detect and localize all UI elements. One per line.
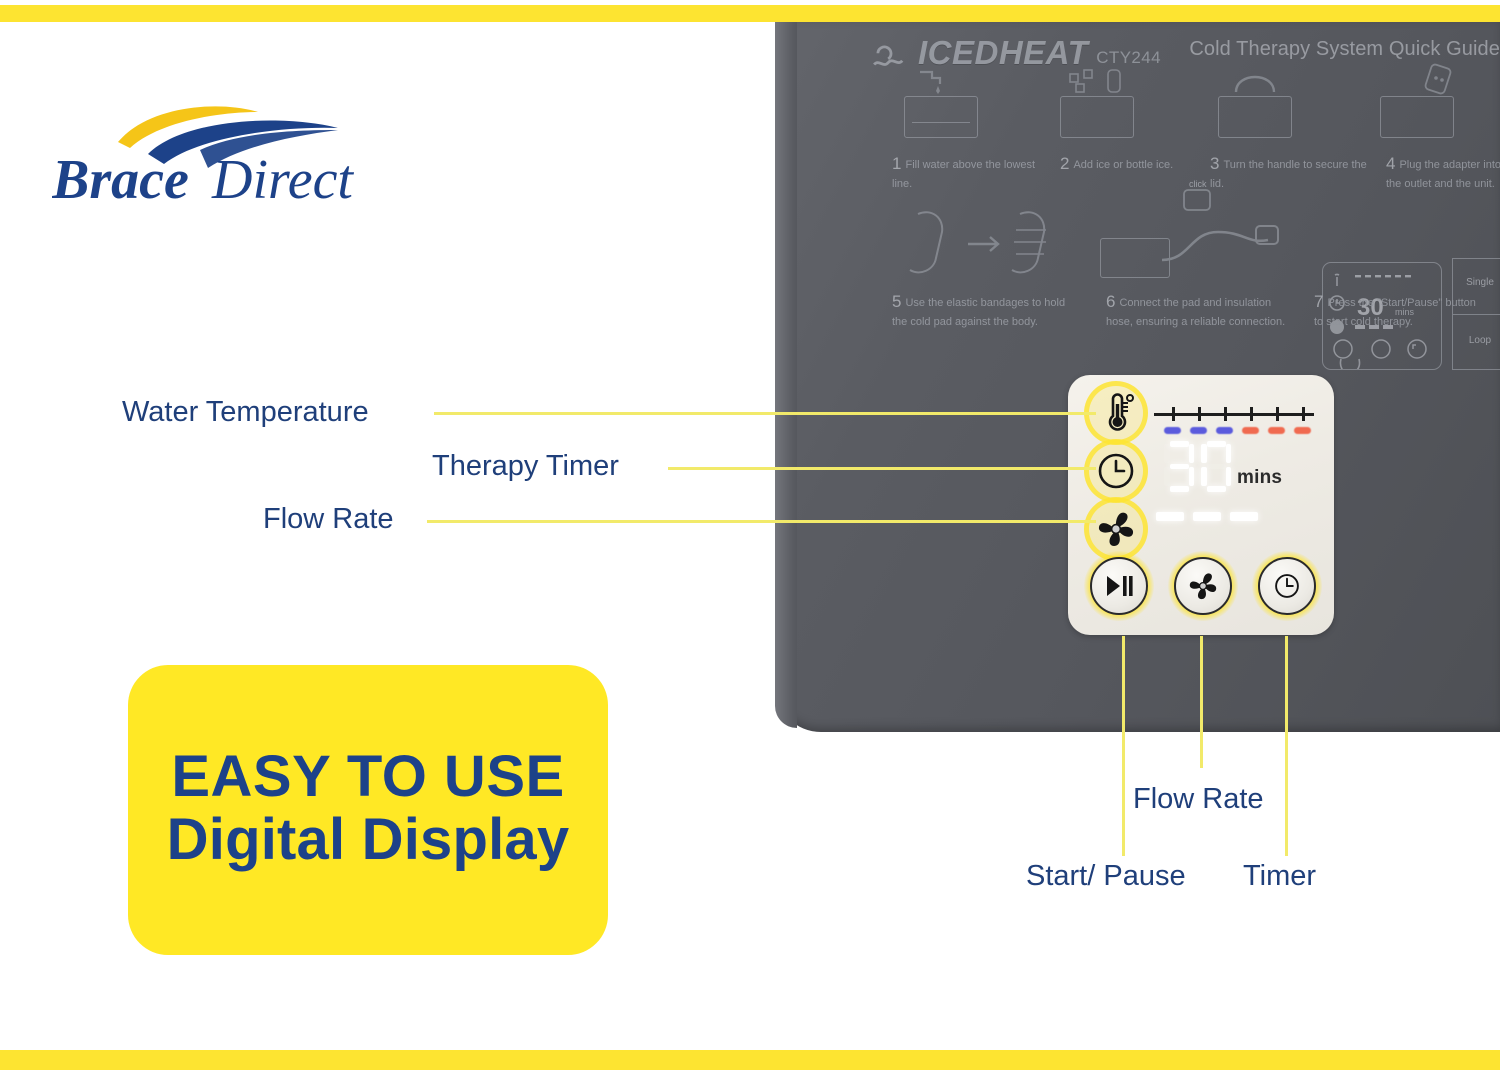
faucet-icon [916, 66, 950, 96]
cta-line-1: EASY TO USE [171, 747, 564, 808]
callout-flow-rate-bottom: Flow Rate [1133, 783, 1264, 816]
mode-single-label: Single [1453, 277, 1500, 288]
scale-axis [1154, 413, 1314, 416]
play-pause-icon [1104, 573, 1134, 599]
cta-line-2: Digital Display [167, 808, 570, 873]
guide-step-1: 1Fill water above the lowest line. [892, 154, 1042, 192]
timer-readout: mins [1164, 441, 1282, 491]
guide-step-4: 4Plug the adapter into the outlet and th… [1386, 154, 1500, 192]
callout-therapy-timer: Therapy Timer [432, 450, 619, 483]
button-row [1090, 557, 1316, 615]
pictogram-tank-3 [1218, 96, 1292, 138]
scale-tick [1250, 407, 1253, 421]
guide-step-5: 5Use the elastic bandages to hold the co… [892, 292, 1072, 330]
step-text: Use the elastic bandages to hold the col… [892, 297, 1065, 328]
clock-icon [1271, 570, 1303, 602]
leader-line-start-pause [1122, 636, 1125, 856]
leg-wrap-icon [898, 204, 1078, 290]
scale-tick [1224, 407, 1227, 421]
pictogram-tank-4 [1380, 96, 1454, 138]
cta-banner: EASY TO USE Digital Display [128, 665, 608, 955]
led-cold [1216, 427, 1233, 434]
step-number: 5 [892, 292, 901, 311]
start-pause-button[interactable] [1090, 557, 1148, 615]
brace-direct-logo: Brace Direct [52, 98, 412, 208]
led-warm [1242, 427, 1259, 434]
leader-line-flow-rate-bottom [1200, 636, 1203, 768]
lid-quick-guide: ICEDHEAT CTY244 Cold Therapy System Quic… [860, 26, 1500, 338]
flow-rate-bars [1156, 512, 1258, 521]
pictogram-tank-2 [1060, 96, 1134, 138]
guide-title: Cold Therapy System Quick Guide [1189, 38, 1500, 61]
callout-timer: Timer [1243, 860, 1316, 893]
button-cap[interactable] [1258, 557, 1316, 615]
guide-step-6: 6Connect the pad and insulation hose, en… [1106, 292, 1296, 330]
scale-tick [1276, 407, 1279, 421]
step-number: 2 [1060, 154, 1069, 173]
scale-tick [1172, 407, 1175, 421]
flow-rate-button[interactable] [1174, 557, 1232, 615]
timer-button[interactable] [1258, 557, 1316, 615]
guide-step-2: 2Add ice or bottle ice. [1060, 154, 1210, 174]
step-number: 3 [1210, 154, 1219, 173]
flow-bar [1193, 512, 1221, 521]
leader-line-flow-rate [427, 520, 1096, 523]
callout-water-temperature: Water Temperature [122, 396, 369, 429]
digit-ones [1201, 441, 1231, 491]
scale-tick [1302, 407, 1305, 421]
indicator-therapy-timer [1094, 449, 1138, 493]
click-indicator-icon: click [1170, 180, 1226, 222]
faucet-wave-icon [872, 42, 910, 72]
led-warm [1268, 427, 1285, 434]
leader-line-water-temperature [434, 412, 1096, 415]
step-text: Fill water above the lowest line. [892, 159, 1035, 190]
flow-bar [1156, 512, 1184, 521]
flow-bar [1230, 512, 1258, 521]
mode-loop-label: Loop [1453, 335, 1500, 346]
scale-tick [1198, 407, 1201, 421]
button-cap[interactable] [1090, 557, 1148, 615]
infographic-page: Brace Direct ICEDHEAT CTY244 Cold Therap… [0, 0, 1500, 1076]
led-cold [1190, 427, 1207, 434]
indicator-water-temperature [1094, 391, 1138, 435]
step-text: Press the "Start/Pause" button to start … [1314, 297, 1476, 328]
indicator-flow-rate [1094, 507, 1138, 551]
callout-start-pause: Start/ Pause [1026, 860, 1186, 893]
step-number: 6 [1106, 292, 1115, 311]
seven-segment-digits [1164, 441, 1231, 491]
control-panel: mins [1068, 375, 1334, 635]
leader-line-timer [1285, 636, 1288, 856]
led-cold [1164, 427, 1181, 434]
step-number: 1 [892, 154, 901, 173]
led-warm [1294, 427, 1311, 434]
fan-icon [1094, 507, 1138, 551]
callout-flow-rate-left: Flow Rate [263, 503, 394, 536]
pictogram-tank-1 [904, 96, 978, 138]
timer-unit-label: mins [1237, 467, 1282, 491]
step-text: Connect the pad and insulation hose, ens… [1106, 297, 1285, 328]
step-number: 4 [1386, 154, 1395, 173]
step-text: Plug the adapter into the outlet and the… [1386, 159, 1500, 190]
step-text: Turn the handle to secure the lid. [1210, 159, 1367, 190]
ice-cubes-icon [1066, 68, 1136, 96]
svg-text:click: click [1189, 180, 1207, 189]
temperature-scale [1154, 403, 1314, 437]
handle-icon [1230, 66, 1282, 96]
fan-icon [1186, 569, 1220, 603]
bottom-accent-bar [0, 1050, 1500, 1070]
pictogram-waterline-1 [912, 122, 970, 123]
step-text: Add ice or bottle ice. [1073, 159, 1173, 171]
logo-text-direct: Direct [211, 149, 354, 208]
guide-step-3: 3Turn the handle to secure the lid. [1210, 154, 1380, 192]
logo-text-brace: Brace [52, 149, 189, 208]
step-number: 7 [1314, 292, 1323, 311]
power-adapter-icon [1418, 62, 1462, 96]
pointing-hand-icon [1340, 359, 1359, 369]
top-accent-bar [0, 5, 1500, 22]
digit-tens [1164, 441, 1194, 491]
leader-line-therapy-timer [668, 467, 1096, 470]
button-cap[interactable] [1174, 557, 1232, 615]
thermometer-icon [1094, 391, 1138, 435]
clock-icon [1094, 449, 1138, 493]
device-left-edge [775, 22, 797, 728]
guide-step-7: 7Press the "Start/Pause" button to start… [1314, 292, 1484, 330]
